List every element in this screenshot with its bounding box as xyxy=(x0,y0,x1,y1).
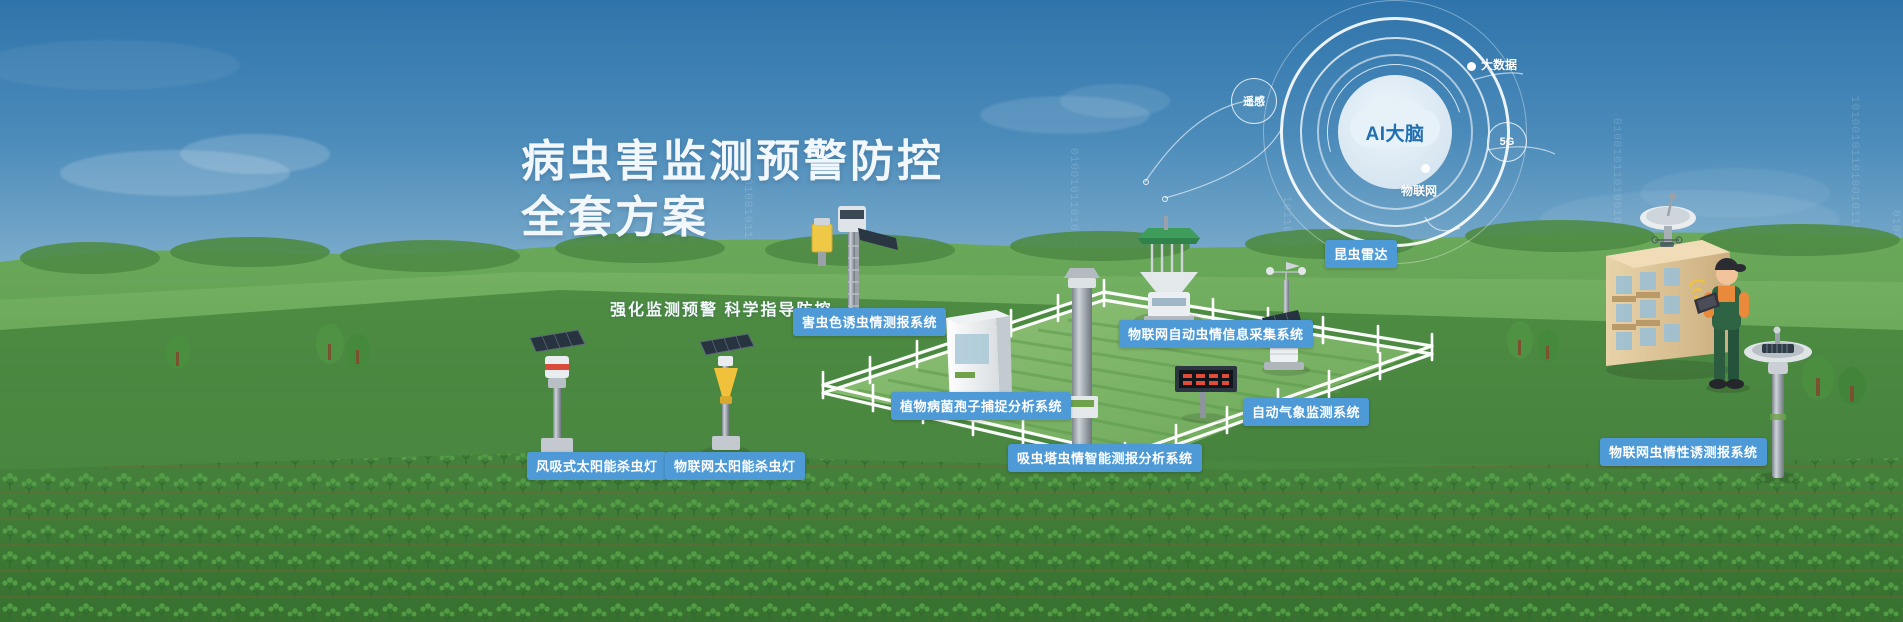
label-suction-tower-intelligent-forecast-analysis-system[interactable]: 吸虫塔虫情智能测报分析系统 xyxy=(1008,444,1202,472)
ai-core: AI大脑 xyxy=(1338,75,1452,189)
headline-line-2: 全套方案 xyxy=(521,190,944,246)
label-plant-pathogen-spore-capture-analysis-system[interactable]: 植物病菌孢子捕捉分析系统 xyxy=(891,392,1071,420)
node-iot-dot[interactable] xyxy=(1421,164,1430,173)
field-scene xyxy=(0,0,1903,622)
label-pest-color-trap-forecast-system[interactable]: 害虫色诱虫情测报系统 xyxy=(793,308,946,336)
node-endpoint-dot xyxy=(1162,196,1168,202)
building-insect-radar xyxy=(1606,193,1730,381)
node-remote-sensing[interactable]: 遥感 xyxy=(1231,78,1277,124)
ai-brain-network: AI大脑 遥感 大数据 5G 物联网 xyxy=(1255,22,1595,262)
label-automatic-weather-monitoring-system[interactable]: 自动气象监测系统 xyxy=(1243,398,1369,426)
label-insect-radar[interactable]: 昆虫雷达 xyxy=(1325,240,1397,268)
node-remote-sensing-label: 遥感 xyxy=(1243,93,1265,109)
label-wind-suction-solar-insecticidal-lamp[interactable]: 风吸式太阳能杀虫灯 xyxy=(527,452,667,480)
node-endpoint-dot xyxy=(1143,179,1149,185)
label-iot-pest-pheromone-forecast-system[interactable]: 物联网虫情性诱测报系统 xyxy=(1600,438,1767,466)
node-5g-label: 5G xyxy=(1500,136,1515,148)
node-big-data-dot[interactable] xyxy=(1467,62,1476,71)
headline-line-1: 病虫害监测预警防控 xyxy=(521,134,944,190)
ai-core-label: AI大脑 xyxy=(1365,119,1424,146)
node-5g[interactable]: 5G xyxy=(1487,122,1527,162)
label-iot-solar-insecticidal-lamp[interactable]: 物联网太阳能杀虫灯 xyxy=(665,452,805,480)
pest-monitoring-banner: 01001011010010110100101101001011 0100101… xyxy=(0,0,1903,622)
label-iot-automatic-pest-info-collection-system[interactable]: 物联网自动虫情信息采集系统 xyxy=(1119,320,1313,348)
node-big-data-label: 大数据 xyxy=(1481,56,1517,73)
headline-block: 病虫害监测预警防控 全套方案 xyxy=(521,134,944,247)
node-iot-label: 物联网 xyxy=(1401,182,1437,199)
